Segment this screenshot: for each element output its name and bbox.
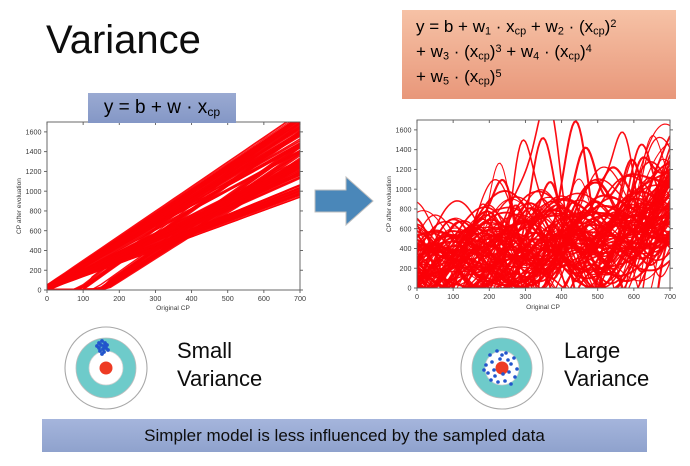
svg-text:0: 0 (38, 286, 42, 295)
svg-text:300: 300 (149, 294, 161, 303)
page-title: Variance (46, 18, 201, 62)
caption-small-variance: Small Variance (177, 337, 262, 393)
svg-text:700: 700 (294, 294, 306, 303)
chart-right-svg: 0100200300400500600700020040060080010001… (382, 114, 682, 312)
polynomial-equation-line-2: + w3 · (xcp)3 + w4 · (xcp)4 (416, 40, 676, 65)
small-variance-target (63, 325, 149, 411)
chart-large-variance: 0100200300400500600700020040060080010001… (382, 114, 682, 312)
svg-text:200: 200 (400, 264, 412, 273)
polynomial-equation-box: y = b + w1 · xcp + w2 · (xcp)2 + w3 · (x… (402, 10, 676, 99)
svg-text:300: 300 (519, 292, 531, 301)
slide-root: Variance y = b + w · xcp y = b + w1 · xc… (0, 0, 690, 466)
svg-text:800: 800 (30, 207, 42, 216)
bottom-banner-text: Simpler model is less influenced by the … (144, 426, 545, 446)
svg-text:1400: 1400 (26, 147, 42, 156)
chart-right-xlabel: Original CP (526, 304, 560, 311)
svg-text:800: 800 (400, 205, 412, 214)
chart-right-ylabel: CP after evoluation (386, 176, 393, 232)
svg-text:1400: 1400 (396, 145, 412, 154)
svg-text:0: 0 (408, 284, 412, 293)
chart-left-svg: 0100200300400500600700020040060080010001… (12, 118, 312, 313)
chart-small-variance: 0100200300400500600700020040060080010001… (12, 118, 312, 313)
svg-text:500: 500 (592, 292, 604, 301)
linear-equation-text: y = b + w · xcp (104, 97, 220, 119)
polynomial-equation-line-1: y = b + w1 · xcp + w2 · (xcp)2 (416, 15, 676, 40)
chart-left-ylabel: CP after evoluation (16, 178, 23, 234)
svg-text:200: 200 (30, 266, 42, 275)
svg-text:600: 600 (400, 224, 412, 233)
svg-text:600: 600 (258, 294, 270, 303)
svg-text:200: 200 (113, 294, 125, 303)
caption-large-variance: Large Variance (564, 337, 649, 393)
svg-text:1200: 1200 (26, 167, 42, 176)
svg-text:100: 100 (77, 294, 89, 303)
svg-text:600: 600 (30, 226, 42, 235)
right-arrow-icon (313, 170, 375, 232)
svg-text:1000: 1000 (26, 187, 42, 196)
chart-left-xlabel: Original CP (156, 305, 190, 312)
svg-text:1000: 1000 (396, 185, 412, 194)
caption-large-line1: Large (564, 337, 649, 365)
svg-text:1600: 1600 (26, 127, 42, 136)
polynomial-equation-line-3: + w5 · (xcp)5 (416, 65, 676, 90)
svg-text:100: 100 (447, 292, 459, 301)
chart-right-curves (417, 114, 670, 312)
chart-left-curves (47, 118, 300, 290)
caption-small-line2: Variance (177, 365, 262, 393)
svg-text:0: 0 (45, 294, 49, 303)
svg-text:500: 500 (222, 294, 234, 303)
svg-text:400: 400 (30, 246, 42, 255)
bottom-banner: Simpler model is less influenced by the … (42, 419, 647, 452)
svg-text:0: 0 (415, 292, 419, 301)
svg-text:1200: 1200 (396, 165, 412, 174)
svg-text:200: 200 (483, 292, 495, 301)
svg-text:400: 400 (556, 292, 568, 301)
svg-text:1600: 1600 (396, 125, 412, 134)
large-variance-target (459, 325, 545, 411)
svg-text:400: 400 (186, 294, 198, 303)
caption-small-line1: Small (177, 337, 262, 365)
svg-text:600: 600 (628, 292, 640, 301)
caption-large-line2: Variance (564, 365, 649, 393)
svg-text:700: 700 (664, 292, 676, 301)
linear-equation-box: y = b + w · xcp (88, 93, 236, 123)
svg-text:400: 400 (400, 244, 412, 253)
